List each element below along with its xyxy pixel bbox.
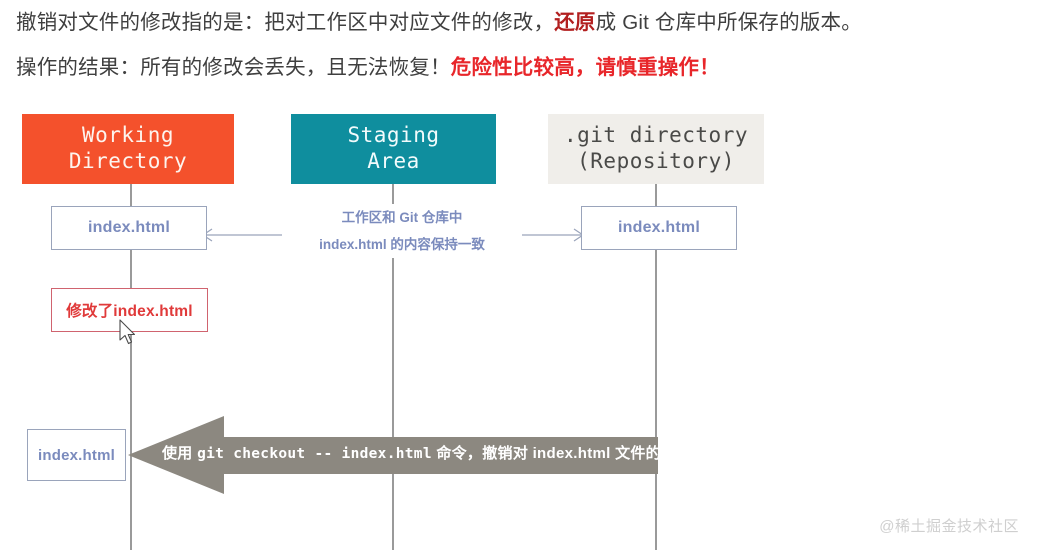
- file-box-restored-label: index.html: [38, 447, 115, 464]
- intro-line-2: 操作的结果：所有的修改会丢失，且无法恢复！危险性比较高，请慎重操作！: [16, 53, 1026, 84]
- file-box-repository-index-html: index.html: [581, 206, 737, 250]
- intro-text-block: 撤销对文件的修改指的是：把对工作区中对应文件的修改，还原成 Git 仓库中所保存…: [16, 8, 1026, 84]
- checkout-label-suffix: 命令，撤销对 index.html 文件的修改: [432, 445, 692, 462]
- intro-line-1-part-1: 撤销对文件的修改指的是：把对工作区中对应文件的修改，: [16, 11, 554, 34]
- sync-caption-line-2: index.html 的内容保持一致: [282, 231, 522, 258]
- watermark: @稀土掘金技术社区: [879, 515, 1019, 536]
- checkout-label-command: git checkout -- index.html: [197, 446, 432, 462]
- lane-header-repo-line-1: .git directory: [564, 123, 748, 149]
- lane-header-working-line-1: Working: [82, 123, 174, 149]
- intro-line-2-highlight: 危险性比较高，请慎重操作！: [451, 56, 720, 79]
- intro-line-1: 撤销对文件的修改指的是：把对工作区中对应文件的修改，还原成 Git 仓库中所保存…: [16, 8, 1026, 39]
- file-box-restored-index-html: index.html: [27, 429, 126, 481]
- file-box-modified-label: 修改了index.html: [66, 299, 193, 321]
- mouse-cursor-icon: [119, 319, 139, 347]
- checkout-label-prefix: 使用: [162, 445, 197, 462]
- intro-line-1-part-2: 成 Git 仓库中所保存的版本。: [596, 11, 862, 34]
- file-box-working-label: index.html: [88, 219, 170, 237]
- intro-line-2-part-1: 操作的结果：所有的修改会丢失，且无法恢复！: [16, 56, 451, 79]
- lane-header-git-directory: .git directory (Repository): [548, 114, 764, 184]
- lane-header-working-directory: Working Directory: [22, 114, 234, 184]
- git-workflow-diagram: Working Directory Staging Area .git dire…: [0, 108, 1037, 550]
- lane-header-staging-line-2: Area: [367, 149, 420, 175]
- intro-line-1-highlight: 还原: [554, 11, 595, 34]
- file-box-working-index-html: index.html: [51, 206, 207, 250]
- sync-caption: 工作区和 Git 仓库中 index.html 的内容保持一致: [282, 204, 522, 258]
- lane-header-staging-area: Staging Area: [291, 114, 496, 184]
- file-box-repository-label: index.html: [618, 219, 700, 237]
- sync-caption-line-1: 工作区和 Git 仓库中: [282, 204, 522, 231]
- checkout-command-label: 使用 git checkout -- index.html 命令，撤销对 ind…: [162, 443, 692, 465]
- lane-header-repo-line-2: (Repository): [577, 149, 735, 175]
- lane-header-staging-line-1: Staging: [347, 123, 439, 149]
- lane-header-working-line-2: Directory: [69, 149, 187, 175]
